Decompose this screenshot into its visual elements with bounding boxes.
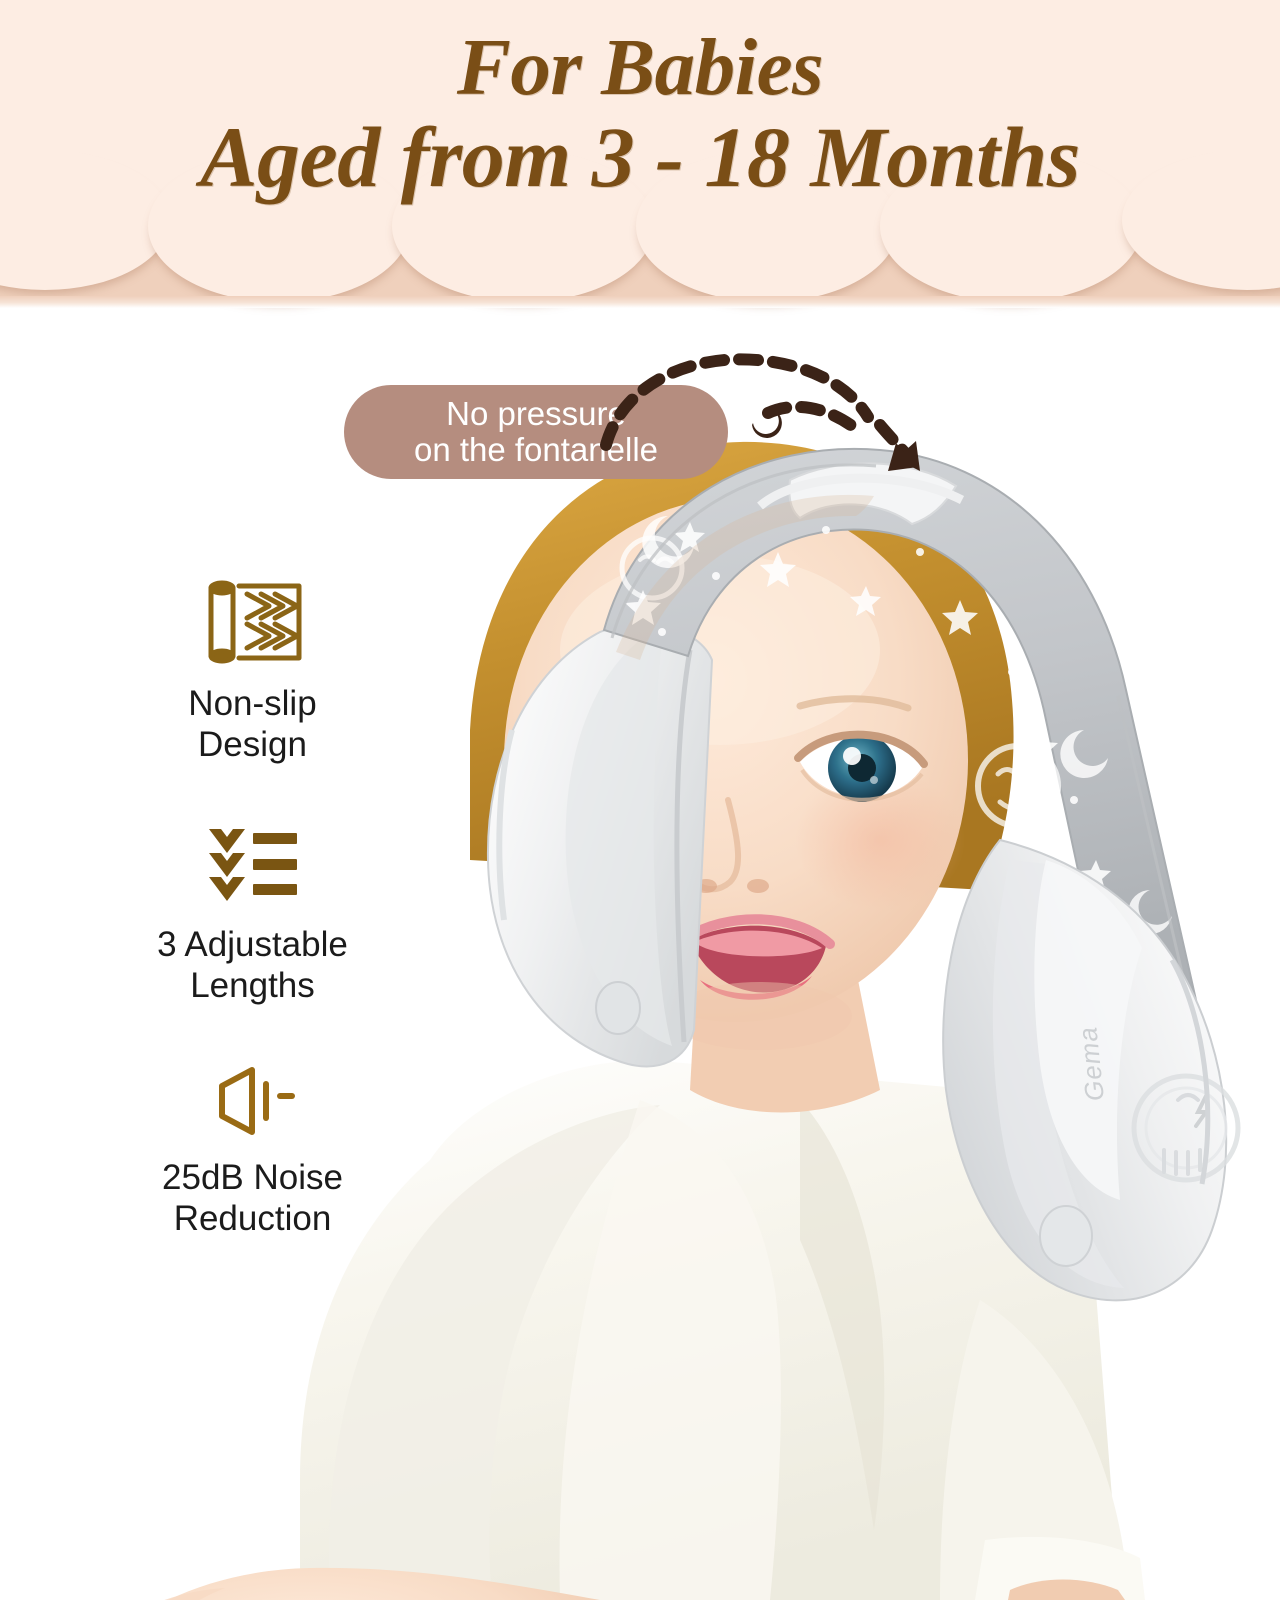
page-title: For Babies Aged from 3 - 18 Months [0,24,1280,203]
volume-reduction-icon [210,1064,296,1138]
feature-noise-reduction: 25dB Noise Reduction [120,1064,385,1239]
headline-line-2: Aged from 3 - 18 Months [0,111,1280,203]
feature-label: 3 Adjustable Lengths [120,925,385,1006]
product-banner: For Babies Aged from 3 - 18 Months [0,0,1280,1600]
feature-list: Non-slip Design 3 Adjustable Lengths [120,580,385,1298]
feature-adjustable-lengths: 3 Adjustable Lengths [120,823,385,1006]
feature-label: 25dB Noise Reduction [120,1158,385,1239]
feature-non-slip: Non-slip Design [120,580,385,765]
non-slip-mat-icon [199,580,307,664]
checklist-lengths-icon [205,823,301,905]
headline-line-1: For Babies [0,24,1280,111]
callout-arrow [580,325,960,500]
feature-label: Non-slip Design [120,684,385,765]
